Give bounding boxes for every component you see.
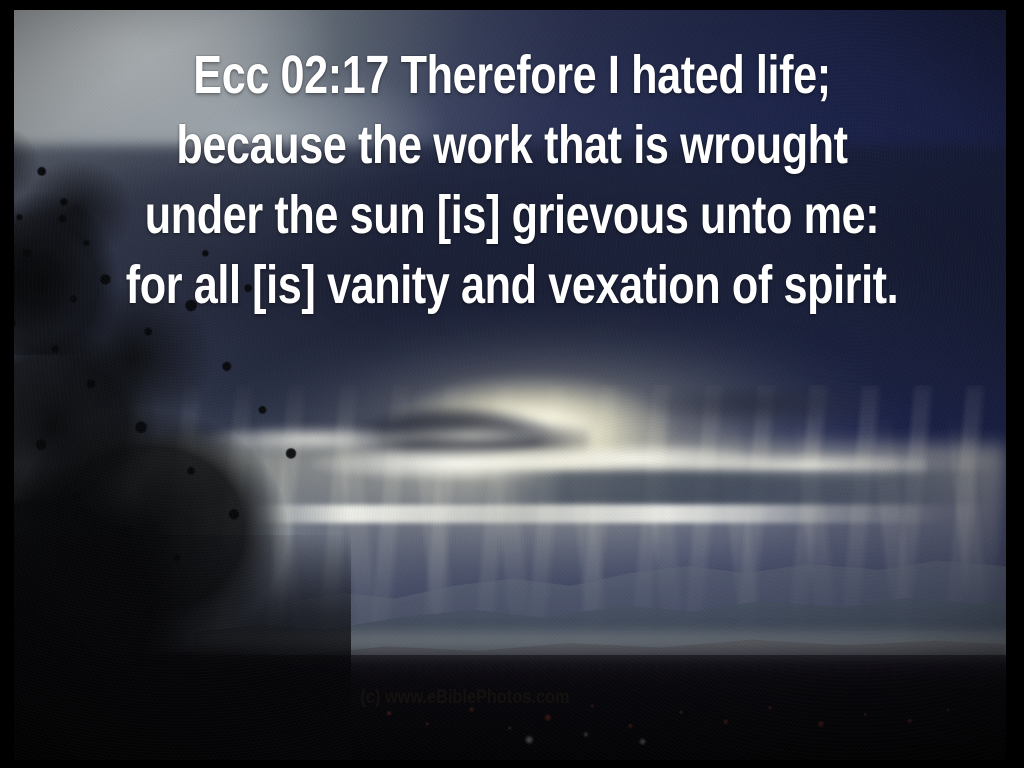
bible-verse-photo-card: Ecc 02:17 Therefore I hated life; becaus… bbox=[0, 0, 1024, 768]
frame-border-right bbox=[1006, 0, 1024, 768]
city-pale-lights bbox=[490, 723, 708, 753]
foreground-hillside bbox=[14, 535, 351, 760]
frame-border-left bbox=[0, 0, 14, 768]
frame-border-bottom bbox=[0, 760, 1024, 768]
frame-border-top bbox=[0, 0, 1024, 10]
lower-cloud-deck bbox=[470, 471, 1006, 505]
photograph bbox=[14, 10, 1006, 760]
tree-silhouette-upper-branch bbox=[14, 100, 153, 355]
copyright-watermark: (c) www.eBiblePhotos.com bbox=[355, 688, 575, 707]
